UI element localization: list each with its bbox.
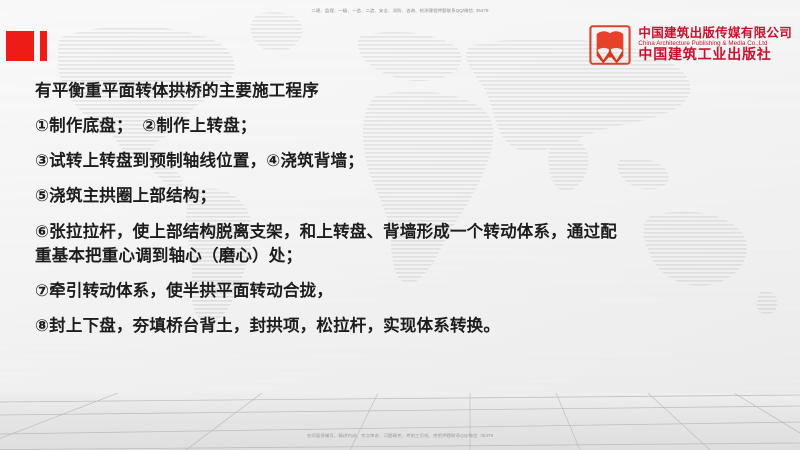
publisher-logo-text: 中国建筑出版传媒有限公司 China Architecture Publishi… (638, 27, 792, 63)
red-square-mark (6, 31, 34, 61)
publisher-company-cn: 中国建筑出版传媒有限公司 (638, 27, 792, 40)
procedure-line-2: ③试转上转盘到预制轴线位置，④浇筑背墙； (35, 153, 775, 170)
procedure-line-6: ⑧封上下盘，夯填桥台背土，封拱项，松拉杆，实现体系转换。 (35, 318, 775, 335)
top-watermark-text: 二建、监理、一级、一造、二造、安全、消防、咨询、检测课程押题联系QQ/微信: 3… (0, 8, 800, 14)
publisher-press-cn: 中国建筑工业出版社 (638, 48, 792, 63)
procedure-line-3: ⑤浇筑主拱圈上部结构； (35, 188, 775, 205)
publisher-emblem-icon (589, 25, 631, 65)
perspective-floor (0, 393, 800, 450)
procedure-line-4-continued: 重基本把重心调到轴心（磨心）处； (35, 248, 775, 265)
floor-grid-icon (0, 393, 800, 450)
bottom-watermark-text: 名师面授辅导、精讲内训、考点串讲、习题精考、考前三页纸、绝密押题联系QQ/微信:… (0, 433, 800, 439)
procedure-line-1: ①制作底盘； ②制作上转盘； (35, 118, 775, 135)
slide-canvas: 二建、监理、一级、一造、二造、安全、消防、咨询、检测课程押题联系QQ/微信: 3… (0, 0, 800, 450)
slide-title: 有平衡重平面转体拱桥的主要施工程序 (35, 83, 775, 100)
red-bar-mark (40, 31, 47, 61)
procedure-line-4: ⑥张拉拉杆，使上部结构脱离支架，和上转盘、背墙形成一个转动体系，通过配 (35, 224, 775, 241)
procedure-line-5: ⑦牵引转动体系，使半拱平面转动合拢， (35, 283, 775, 300)
publisher-logo: 中国建筑出版传媒有限公司 China Architecture Publishi… (589, 25, 792, 65)
slide-body: 有平衡重平面转体拱桥的主要施工程序 ①制作底盘； ②制作上转盘； ③试转上转盘到… (35, 83, 775, 353)
